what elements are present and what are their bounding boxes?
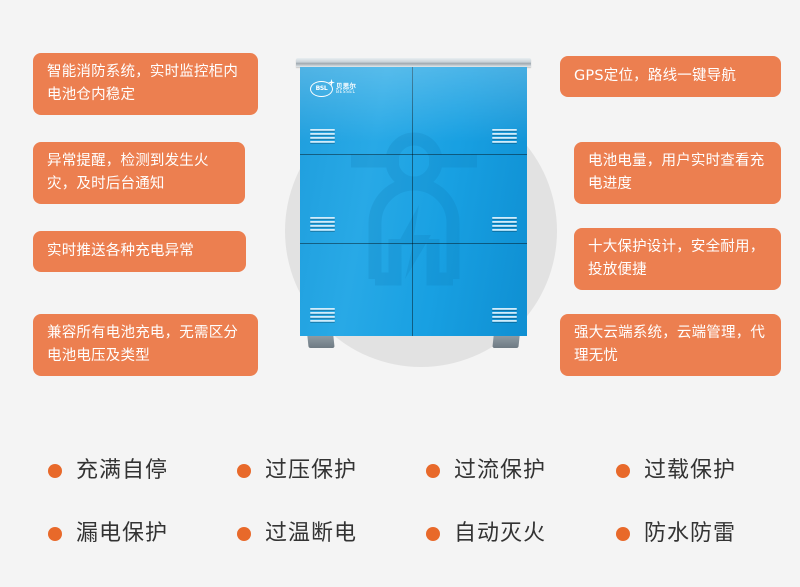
feature-item-full-charge-auto-stop: 充满自停 <box>48 460 168 482</box>
feature-label: 过压保护 <box>265 460 357 482</box>
logo-brand-cn: 贝思尔 <box>336 83 356 90</box>
vent-louver-icon <box>492 129 517 143</box>
callout-cloud-system: 强大云端系统，云端管理，代理无忧 <box>560 314 781 376</box>
bullet-dot-icon <box>616 464 630 478</box>
vent-louver-icon <box>310 308 335 322</box>
feature-label: 自动灭火 <box>454 523 546 545</box>
cabinet-body: BSL 贝思尔 BESSEL <box>300 67 527 336</box>
bullet-dot-icon <box>237 464 251 478</box>
logo-mark-text: BSL <box>316 86 328 92</box>
cabinet-door-4[interactable] <box>413 155 527 244</box>
battery-swap-cabinet-image: BSL 贝思尔 BESSEL <box>300 58 527 348</box>
bullet-dot-icon <box>426 464 440 478</box>
feature-list-section: 充满自停 过压保护 过流保护 过载保护 漏电保护 过温断电 自动灭火 <box>0 432 800 587</box>
cabinet-door-6[interactable] <box>413 244 527 336</box>
cabinet-door-3[interactable] <box>300 155 413 244</box>
vent-louver-icon <box>492 217 517 231</box>
feature-label: 防水防雷 <box>644 523 736 545</box>
cabinet-door-1[interactable]: BSL 贝思尔 BESSEL <box>300 67 413 155</box>
cabinet-door-2[interactable] <box>413 67 527 155</box>
callout-battery-compatible: 兼容所有电池充电，无需区分电池电压及类型 <box>33 314 258 376</box>
callout-abnormal-alert: 异常提醒，检测到发生火灾，及时后台通知 <box>33 142 245 204</box>
vent-louver-icon <box>310 217 335 231</box>
callout-realtime-push: 实时推送各种充电异常 <box>33 231 246 272</box>
feature-label: 过流保护 <box>454 460 546 482</box>
bullet-dot-icon <box>237 527 251 541</box>
bullet-dot-icon <box>426 527 440 541</box>
feature-label: 过载保护 <box>644 460 736 482</box>
logo-wordmark: 贝思尔 BESSEL <box>336 83 356 95</box>
feature-item-over-temperature-cutoff: 过温断电 <box>237 523 357 545</box>
feature-label: 充满自停 <box>76 460 168 482</box>
page-root: BSL 贝思尔 BESSEL <box>0 0 800 587</box>
bullet-dot-icon <box>616 527 630 541</box>
cabinet-top-panel <box>296 58 531 67</box>
feature-item-leakage-protection: 漏电保护 <box>48 523 168 545</box>
feature-item-waterproof-lightning-proof: 防水防雷 <box>616 523 736 545</box>
feature-item-over-current-protection: 过流保护 <box>426 460 546 482</box>
callout-battery-level: 电池电量，用户实时查看充电进度 <box>574 142 781 204</box>
vent-louver-icon <box>310 129 335 143</box>
callout-smart-fire-system: 智能消防系统，实时监控柜内电池仓内稳定 <box>33 53 258 115</box>
logo-mark-icon: BSL <box>310 81 333 97</box>
callout-gps-navigation: GPS定位，路线一键导航 <box>560 56 781 97</box>
logo-brand-en: BESSEL <box>336 91 356 96</box>
callout-ten-protections: 十大保护设计，安全耐用，投放便捷 <box>574 228 781 290</box>
feature-item-auto-fire-extinguishing: 自动灭火 <box>426 523 546 545</box>
feature-item-over-voltage-protection: 过压保护 <box>237 460 357 482</box>
brand-logo: BSL 贝思尔 BESSEL <box>310 81 356 97</box>
cabinet-foot-left <box>307 336 334 348</box>
product-hero-section: BSL 贝思尔 BESSEL <box>0 0 800 410</box>
bullet-dot-icon <box>48 527 62 541</box>
vent-louver-icon <box>492 308 517 322</box>
feature-label: 过温断电 <box>265 523 357 545</box>
cabinet-door-5[interactable] <box>300 244 413 336</box>
bullet-dot-icon <box>48 464 62 478</box>
cabinet-foot-right <box>492 336 519 348</box>
feature-label: 漏电保护 <box>76 523 168 545</box>
feature-item-overload-protection: 过载保护 <box>616 460 736 482</box>
